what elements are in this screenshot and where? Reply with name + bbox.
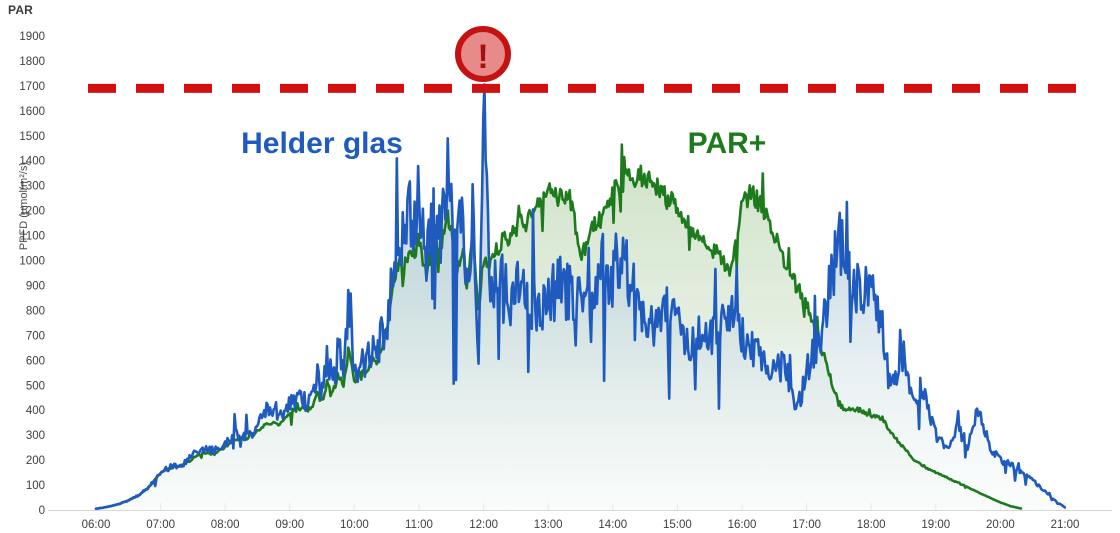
- warning-exclamation-glyph: !: [477, 38, 488, 76]
- y-tick-label: 1200: [19, 206, 45, 218]
- par-chart: PAR PPFD (µmol/m²/s) 0100200300400500600…: [0, 0, 1120, 533]
- y-tick-label: 1500: [19, 131, 45, 143]
- exclamation-circle-icon[interactable]: !: [458, 29, 508, 79]
- y-tick-label: 1000: [19, 256, 45, 268]
- chart-svg: 0100200300400500600700800900100011001200…: [0, 0, 1120, 533]
- x-tick-label: 06:00: [82, 519, 111, 531]
- y-tick-label: 1100: [20, 231, 45, 243]
- x-tick-label: 14:00: [598, 519, 627, 531]
- y-tick-label: 1900: [19, 31, 45, 43]
- y-tick-label: 1400: [19, 156, 45, 168]
- series-label-par-plus: PAR+: [688, 127, 767, 160]
- y-tick-label: 300: [26, 430, 45, 442]
- x-tick-label: 15:00: [663, 519, 692, 531]
- y-tick-label: 200: [26, 455, 45, 467]
- series-label-helder-glas: Helder glas: [241, 127, 403, 160]
- x-tick-label: 11:00: [405, 519, 433, 531]
- y-tick-label: 500: [26, 380, 45, 392]
- y-tick-label: 1700: [19, 81, 45, 93]
- x-tick-label: 20:00: [986, 519, 1015, 531]
- x-tick-label: 08:00: [211, 519, 240, 531]
- x-tick-label: 07:00: [146, 519, 175, 531]
- y-tick-label: 1300: [19, 181, 45, 193]
- y-axis-ticks: 0100200300400500600700800900100011001200…: [19, 31, 45, 517]
- x-tick-label: 16:00: [728, 519, 757, 531]
- y-tick-label: 900: [26, 280, 45, 292]
- x-tick-label: 10:00: [340, 519, 369, 531]
- y-tick-label: 600: [26, 355, 45, 367]
- x-tick-label: 19:00: [921, 519, 950, 531]
- y-tick-label: 1800: [19, 56, 45, 68]
- y-tick-label: 1600: [19, 106, 45, 118]
- y-tick-label: 700: [26, 330, 45, 342]
- x-axis-ticks: 06:0007:0008:0009:0010:0011:0012:0013:00…: [82, 519, 1080, 531]
- y-tick-label: 100: [26, 480, 45, 492]
- x-tick-label: 21:00: [1051, 519, 1080, 531]
- x-tick-label: 17:00: [792, 519, 821, 531]
- x-tick-label: 13:00: [534, 519, 563, 531]
- y-tick-label: 800: [26, 305, 45, 317]
- x-tick-label: 18:00: [857, 519, 886, 531]
- y-tick-label: 0: [39, 505, 45, 517]
- x-tick-label: 09:00: [275, 519, 304, 531]
- y-tick-label: 400: [26, 405, 45, 417]
- x-tick-label: 12:00: [469, 519, 498, 531]
